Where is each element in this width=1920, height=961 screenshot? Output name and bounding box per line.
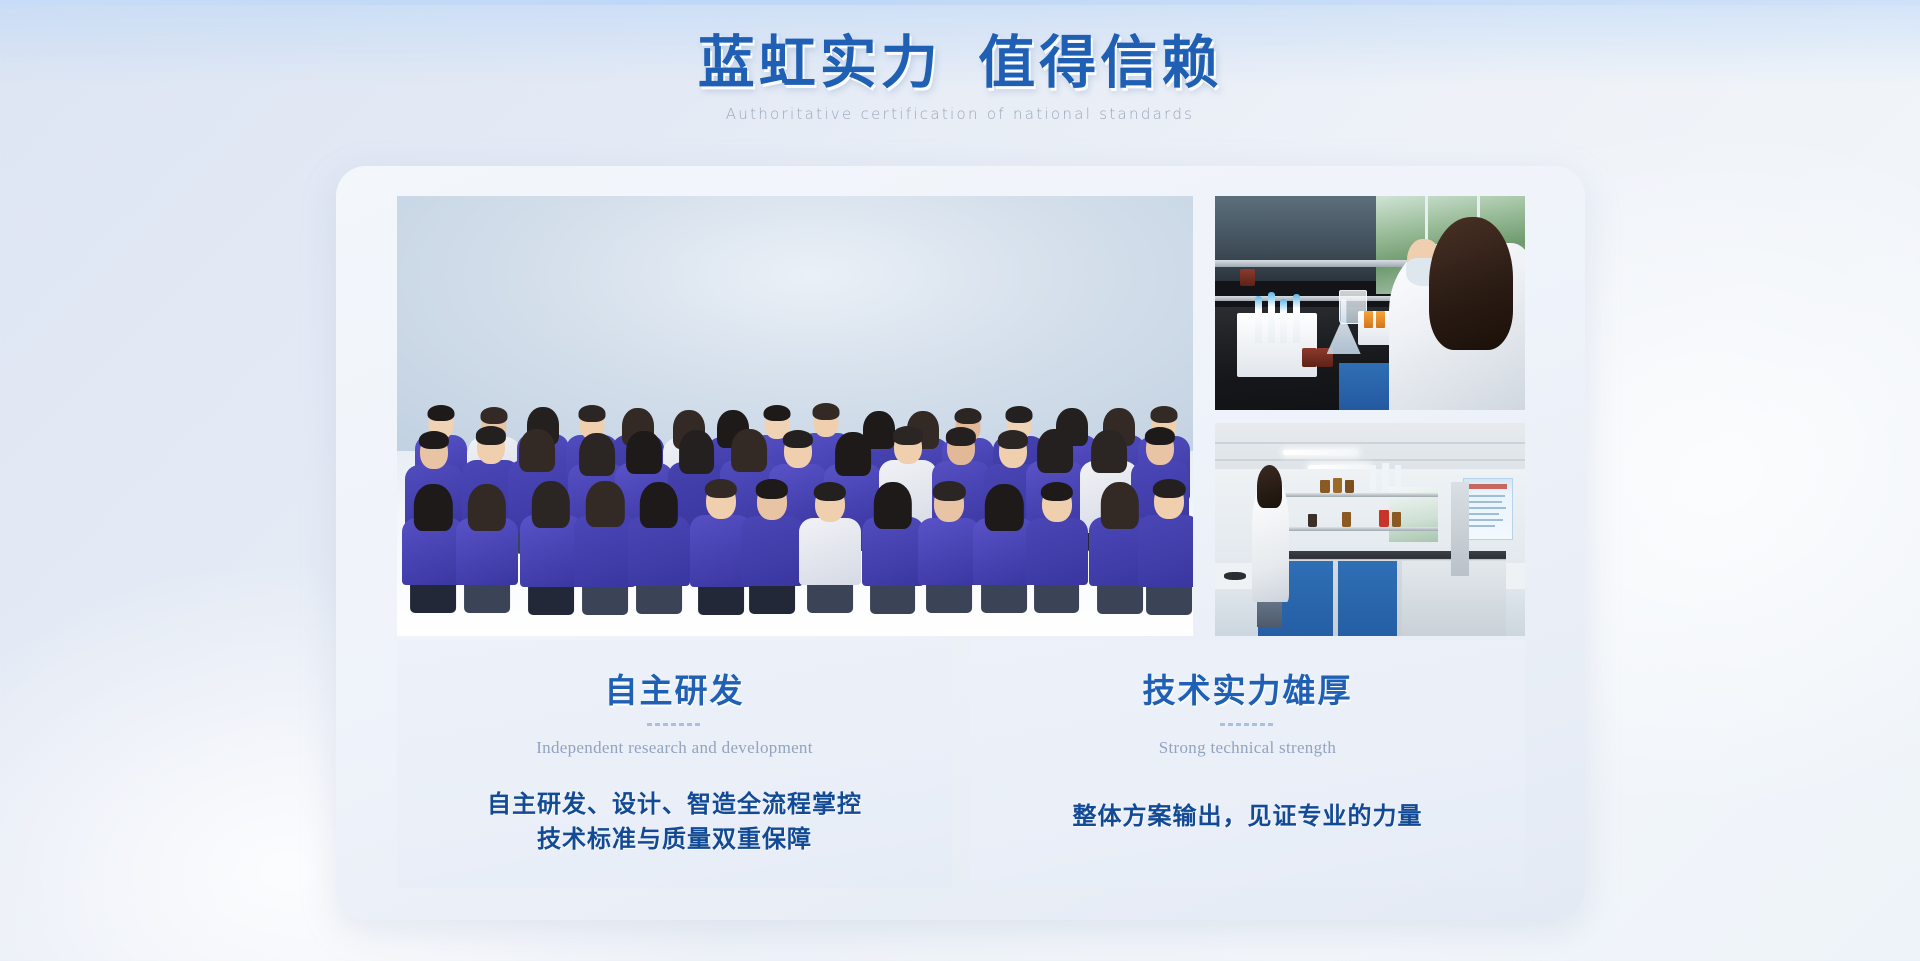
pipette <box>1280 299 1287 344</box>
person <box>1026 507 1088 613</box>
lab-stool <box>1224 572 1246 598</box>
person-hair <box>468 484 506 531</box>
reagent-bottle <box>1392 512 1401 527</box>
person-hair <box>814 482 846 502</box>
person-hair <box>427 405 454 422</box>
person-hair <box>1040 482 1072 502</box>
card-subtitle: Independent research and development <box>397 738 952 758</box>
reagent-bottle <box>1345 480 1354 493</box>
person-hair <box>414 484 452 531</box>
lab-scene-one <box>1215 196 1525 410</box>
stool-seat <box>1224 572 1246 580</box>
person-hair <box>579 405 606 422</box>
person-hair <box>419 431 449 449</box>
reagent-bottle <box>1308 514 1317 527</box>
side-photo-column <box>1215 196 1525 636</box>
person <box>1138 504 1193 615</box>
person-hair <box>764 405 791 422</box>
card-description: 自主研发、设计、智造全流程掌控 技术标准与质量双重保障 <box>397 788 952 858</box>
card-description: 整体方案输出，见证专业的力量 <box>970 800 1525 835</box>
person-hair <box>985 484 1023 531</box>
sample-tube <box>1364 311 1373 328</box>
person-hair <box>812 403 839 420</box>
dashed-divider-icon <box>1220 723 1275 726</box>
blue-cabinet <box>1338 561 1398 636</box>
page-title: 蓝虹实力 值得信赖 <box>0 30 1920 97</box>
feature-card-rnd[interactable]: 自主研发 Independent research and developmen… <box>397 640 952 888</box>
person-hair <box>476 426 506 444</box>
reagent-bottle <box>1342 512 1351 527</box>
person-hair <box>481 407 508 424</box>
reagent-bottle <box>1302 348 1318 367</box>
person-hair <box>1145 427 1175 445</box>
poster-text-line <box>1468 495 1505 497</box>
laboratory-room-photo <box>1215 423 1525 637</box>
reagent-bottle <box>1379 510 1388 527</box>
person <box>741 504 803 614</box>
person-hair <box>586 481 624 528</box>
person <box>574 503 636 615</box>
person-hair <box>1006 406 1033 423</box>
company-team-group-photo <box>397 196 1193 636</box>
people-row-3 <box>397 196 1193 636</box>
glass-tube <box>1370 465 1376 491</box>
person-uniform <box>799 518 861 584</box>
person-hair <box>933 481 965 501</box>
technician-hair <box>1429 217 1513 349</box>
lab-technician-pipetting-photo <box>1215 196 1525 410</box>
person-hair <box>946 427 976 445</box>
feature-card-technical[interactable]: 技术实力雄厚 Strong technical strength 整体方案输出，… <box>970 640 1525 888</box>
person-hair <box>873 482 911 529</box>
person-uniform <box>1138 515 1193 586</box>
ceiling-grid-line <box>1215 442 1525 444</box>
reagent-bottle <box>1320 480 1329 493</box>
glass-tube <box>1395 465 1401 491</box>
person-hair <box>640 482 678 529</box>
card-title: 自主研发 <box>397 664 952 712</box>
person-hair <box>783 430 813 448</box>
card-description-line: 自主研发、设计、智造全流程掌控 <box>397 788 952 823</box>
dashed-divider-icon <box>647 723 702 726</box>
person-hair <box>756 479 788 499</box>
sample-tube <box>1376 311 1385 328</box>
person-hair <box>1151 406 1178 423</box>
poster-title-bar <box>1467 484 1507 489</box>
person-hair <box>955 408 982 425</box>
lab-scene-two <box>1215 423 1525 637</box>
person <box>628 504 690 614</box>
person <box>402 507 464 613</box>
person-hair <box>704 479 736 499</box>
pipette <box>1268 292 1275 343</box>
person <box>862 505 924 614</box>
fume-hood-column <box>1451 482 1470 576</box>
people-rows <box>397 196 1193 636</box>
pipette-rack <box>1237 313 1318 377</box>
person-hair <box>998 430 1028 448</box>
media-gallery <box>397 196 1525 636</box>
person-uniform <box>1026 518 1088 584</box>
person <box>799 507 861 613</box>
ceiling-light <box>1283 450 1357 455</box>
person-hair <box>1153 479 1185 499</box>
feature-cards: 自主研发 Independent research and developmen… <box>397 640 1525 888</box>
section-header: 蓝虹实力 值得信赖 Authoritative certification of… <box>0 30 1920 123</box>
person-uniform <box>918 518 980 585</box>
pipette <box>1293 294 1300 343</box>
poster-text-line <box>1468 513 1499 515</box>
card-subtitle: Strong technical strength <box>970 738 1525 758</box>
person-uniform <box>741 516 803 586</box>
person-hair <box>1100 482 1138 529</box>
person-hair <box>532 481 570 528</box>
pipette <box>1255 296 1262 343</box>
card-title: 技术实力雄厚 <box>970 664 1525 712</box>
ceiling-grid-line <box>1215 459 1525 461</box>
poster-text-line <box>1468 519 1503 521</box>
top-accent-line <box>0 0 1920 5</box>
page-subtitle: Authoritative certification of national … <box>0 105 1920 123</box>
reagent-bottle <box>1240 269 1256 286</box>
glass-tube <box>1382 463 1388 491</box>
person <box>456 507 518 613</box>
lab-island-bench <box>1258 551 1506 636</box>
content-panel: 自主研发 Independent research and developmen… <box>336 166 1585 920</box>
person <box>918 506 980 613</box>
reagent-bottle <box>1333 478 1342 493</box>
card-description-line: 技术标准与质量双重保障 <box>397 823 952 858</box>
safety-notice-poster <box>1463 478 1513 540</box>
technician-hair <box>1257 465 1282 508</box>
card-description-line: 整体方案输出，见证专业的力量 <box>970 800 1525 835</box>
poster-text-line <box>1468 507 1506 509</box>
poster-text-line <box>1468 525 1496 527</box>
person <box>520 504 582 615</box>
poster-text-line <box>1468 501 1502 503</box>
person-hair <box>893 426 923 444</box>
